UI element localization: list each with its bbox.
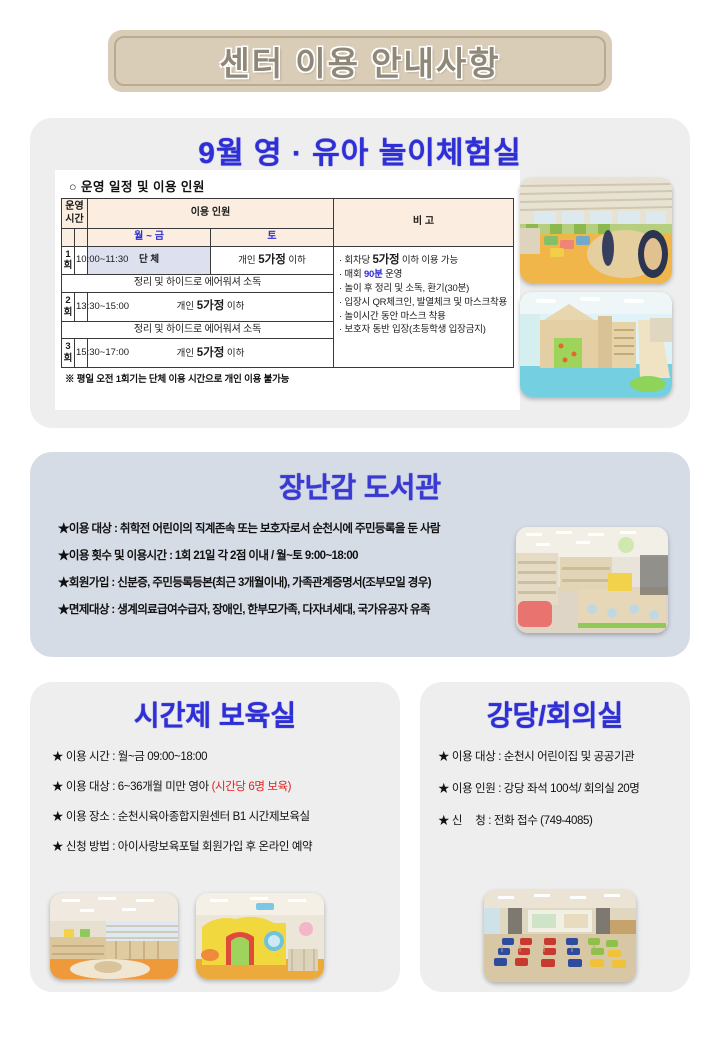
list-item: ★ 이용 장소 : 순천시육아종합지원센터 B1 시간제보육실: [52, 808, 392, 824]
note-cell: · 회차당 5가정 이하 이용 가능 · 매회 90분 운영 · 놀이 후 정리…: [334, 246, 514, 367]
note-1-post: 운영: [383, 269, 403, 280]
schedule-table: 운영 시간 이용 인원 비 고 월 ~ 금 토 1회 10:00~11:30 단…: [61, 198, 514, 368]
cleaning-text-1: 정리 및 하이드로 에어워셔 소독: [62, 275, 334, 293]
row1-sat-prefix: 개인: [238, 255, 255, 266]
note-0-pre: · 회차당: [339, 255, 372, 266]
note-0-hl: 5가정: [372, 254, 399, 266]
daycare-playhouse-image: [196, 893, 324, 979]
note-item-3: · 입장시 QR체크인, 발열체크 및 마스크착용: [339, 297, 510, 309]
row1-time: 10:00~11:30: [75, 246, 88, 275]
hall-item-0-value: 순천시 어린이집 및 공공기관: [504, 751, 635, 763]
note-1-pre: · 매회: [339, 269, 364, 280]
playroom-tunnel-photo: [520, 178, 672, 283]
toy-library-image: [516, 527, 668, 633]
play-room-schedule-box: ○ 운영 일정 및 이용 인원 운영 시간 이용 인원 비 고 월 ~ 금 토 …: [55, 170, 520, 410]
daycare-item-1-highlight: (시간당 6명 보육): [212, 781, 292, 793]
note-item-5: · 보호자 동반 입장(초등학생 입장금지): [339, 324, 510, 336]
auditorium-image: [484, 890, 636, 982]
note-1-hl: 90분: [364, 269, 383, 280]
row3-sat-num: 5가정: [197, 347, 225, 359]
daycare-item-3-text: ★ 신청 방법 : 아이사랑보육포털 회원가입 후 온라인 예약: [52, 841, 312, 853]
list-item: ★ 신청 방법 : 아이사랑보육포털 회원가입 후 온라인 예약: [52, 838, 392, 854]
daycare-yellow-playhouse-photo: [196, 893, 324, 979]
table-row: 1회 10:00~11:30 단 체 개인 5가정 이하 · 회차당 5가정 이…: [62, 246, 514, 275]
note-item-4: · 놀이시간 동안 마스크 착용: [339, 311, 510, 323]
note-item-2: · 놀이 후 정리 및 소독, 환기(30분): [339, 283, 510, 295]
header-operating-time: 운영 시간: [62, 199, 88, 229]
list-item: ★면제대상 : 생계의료급여수급자, 장애인, 한부모가족, 다자녀세대, 국가…: [58, 601, 528, 617]
row3-sat-prefix: 개인: [177, 348, 194, 359]
schedule-footnote: ※ 평일 오전 1회기는 단체 이용 시간으로 개인 이용 불가능: [61, 368, 514, 385]
list-item: ★ 신 청 : 전화 접수 (749-4085): [438, 812, 688, 828]
playroom-wooden-house-photo: [520, 292, 672, 397]
header-note: 비 고: [334, 199, 514, 247]
page-title-banner: 센터 이용 안내사항: [108, 30, 612, 92]
toy-library-list: ★이용 대상 : 취학전 어린이의 직계존속 또는 보호자로서 순천시에 주민등…: [58, 520, 528, 628]
page-title: 센터 이용 안내사항: [219, 37, 500, 85]
note-0-post: 이하 이용 가능: [399, 255, 458, 266]
hourly-daycare-title: 시간제 보육실: [30, 682, 400, 734]
hall-item-1-value: 강당 좌석 100석/ 회의실 20명: [504, 783, 640, 795]
list-item: ★ 이용 대상 : 순천시 어린이집 및 공공기관: [438, 748, 688, 764]
row3-time: 15:30~17:00: [75, 339, 88, 368]
row1-sat-suffix: 이하: [288, 255, 305, 266]
row2-sat-prefix: 개인: [177, 301, 194, 312]
hall-title: 강당/회의실: [420, 682, 690, 734]
header-time-blank: [75, 229, 88, 247]
hall-item-2-value: 전화 접수 (749-4085): [494, 815, 593, 827]
list-item: ★이용 대상 : 취학전 어린이의 직계존속 또는 보호자로서 순천시에 주민등…: [58, 520, 528, 536]
header-saturday: 토: [211, 229, 334, 247]
hall-item-2-label: ★ 신: [438, 815, 462, 827]
header-weekday: 월 ~ 금: [88, 229, 211, 247]
row1-saturday: 개인 5가정 이하: [211, 246, 334, 275]
row3-sat-suffix: 이하: [227, 348, 244, 359]
page-title-border: 센터 이용 안내사항: [114, 36, 606, 86]
daycare-item-0-text: ★ 이용 시간 : 월~금 09:00~18:00: [52, 751, 207, 763]
row2-sat-suffix: 이하: [227, 301, 244, 312]
row1-sat-num: 5가정: [258, 254, 286, 266]
hall-item-2-spacer: [462, 815, 475, 827]
daycare-classroom-photo: [50, 893, 178, 979]
list-item: ★이용 횟수 및 이용시간 : 1회 21일 각 2점 이내 / 월~토 9:0…: [58, 547, 528, 563]
note-item-1: · 매회 90분 운영: [339, 269, 510, 281]
auditorium-chairs-photo: [484, 890, 636, 982]
header-capacity: 이용 인원: [88, 199, 334, 229]
hourly-daycare-list: ★ 이용 시간 : 월~금 09:00~18:00 ★ 이용 대상 : 6~36…: [52, 748, 392, 868]
table-header-row: 운영 시간 이용 인원 비 고: [62, 199, 514, 229]
toy-library-interior-photo: [516, 527, 668, 633]
schedule-caption: ○ 운영 일정 및 이용 인원: [61, 174, 514, 198]
list-item: ★ 이용 인원 : 강당 좌석 100석/ 회의실 20명: [438, 780, 688, 796]
row2-round: 2회: [62, 292, 75, 321]
row1-round: 1회: [62, 246, 75, 275]
toy-library-title: 장난감 도서관: [30, 452, 690, 506]
hall-item-0-label: ★ 이용 대상 :: [438, 751, 504, 763]
hall-item-1-label: ★ 이용 인원 :: [438, 783, 504, 795]
row2-sat-num: 5가정: [197, 300, 225, 312]
list-item: ★ 이용 시간 : 월~금 09:00~18:00: [52, 748, 392, 764]
list-item: ★회원가입 : 신분증, 주민등록등본(최근 3개월이내), 가족관계증명서(조…: [58, 574, 528, 590]
daycare-item-1-text: ★ 이용 대상 : 6~36개월 미만 영아: [52, 781, 212, 793]
cleaning-text-2: 정리 및 하이드로 에어워셔 소독: [62, 321, 334, 339]
playroom-house-image: [520, 292, 672, 397]
daycare-item-2-text: ★ 이용 장소 : 순천시육아종합지원센터 B1 시간제보육실: [52, 811, 310, 823]
list-item: ★ 이용 대상 : 6~36개월 미만 영아 (시간당 6명 보육): [52, 778, 392, 794]
hall-item-2-label2: 청 :: [475, 815, 494, 827]
row3-round: 3회: [62, 339, 75, 368]
daycare-classroom-image: [50, 893, 178, 979]
play-room-title: 9월 영 · 유아 놀이체험실: [30, 118, 690, 172]
row2-time: 13:30~15:00: [75, 292, 88, 321]
note-item-0: · 회차당 5가정 이하 이용 가능: [339, 253, 510, 267]
header-round-blank: [62, 229, 75, 247]
playroom-tunnel-image: [520, 178, 672, 283]
hall-list: ★ 이용 대상 : 순천시 어린이집 및 공공기관 ★ 이용 인원 : 강당 좌…: [438, 748, 688, 844]
